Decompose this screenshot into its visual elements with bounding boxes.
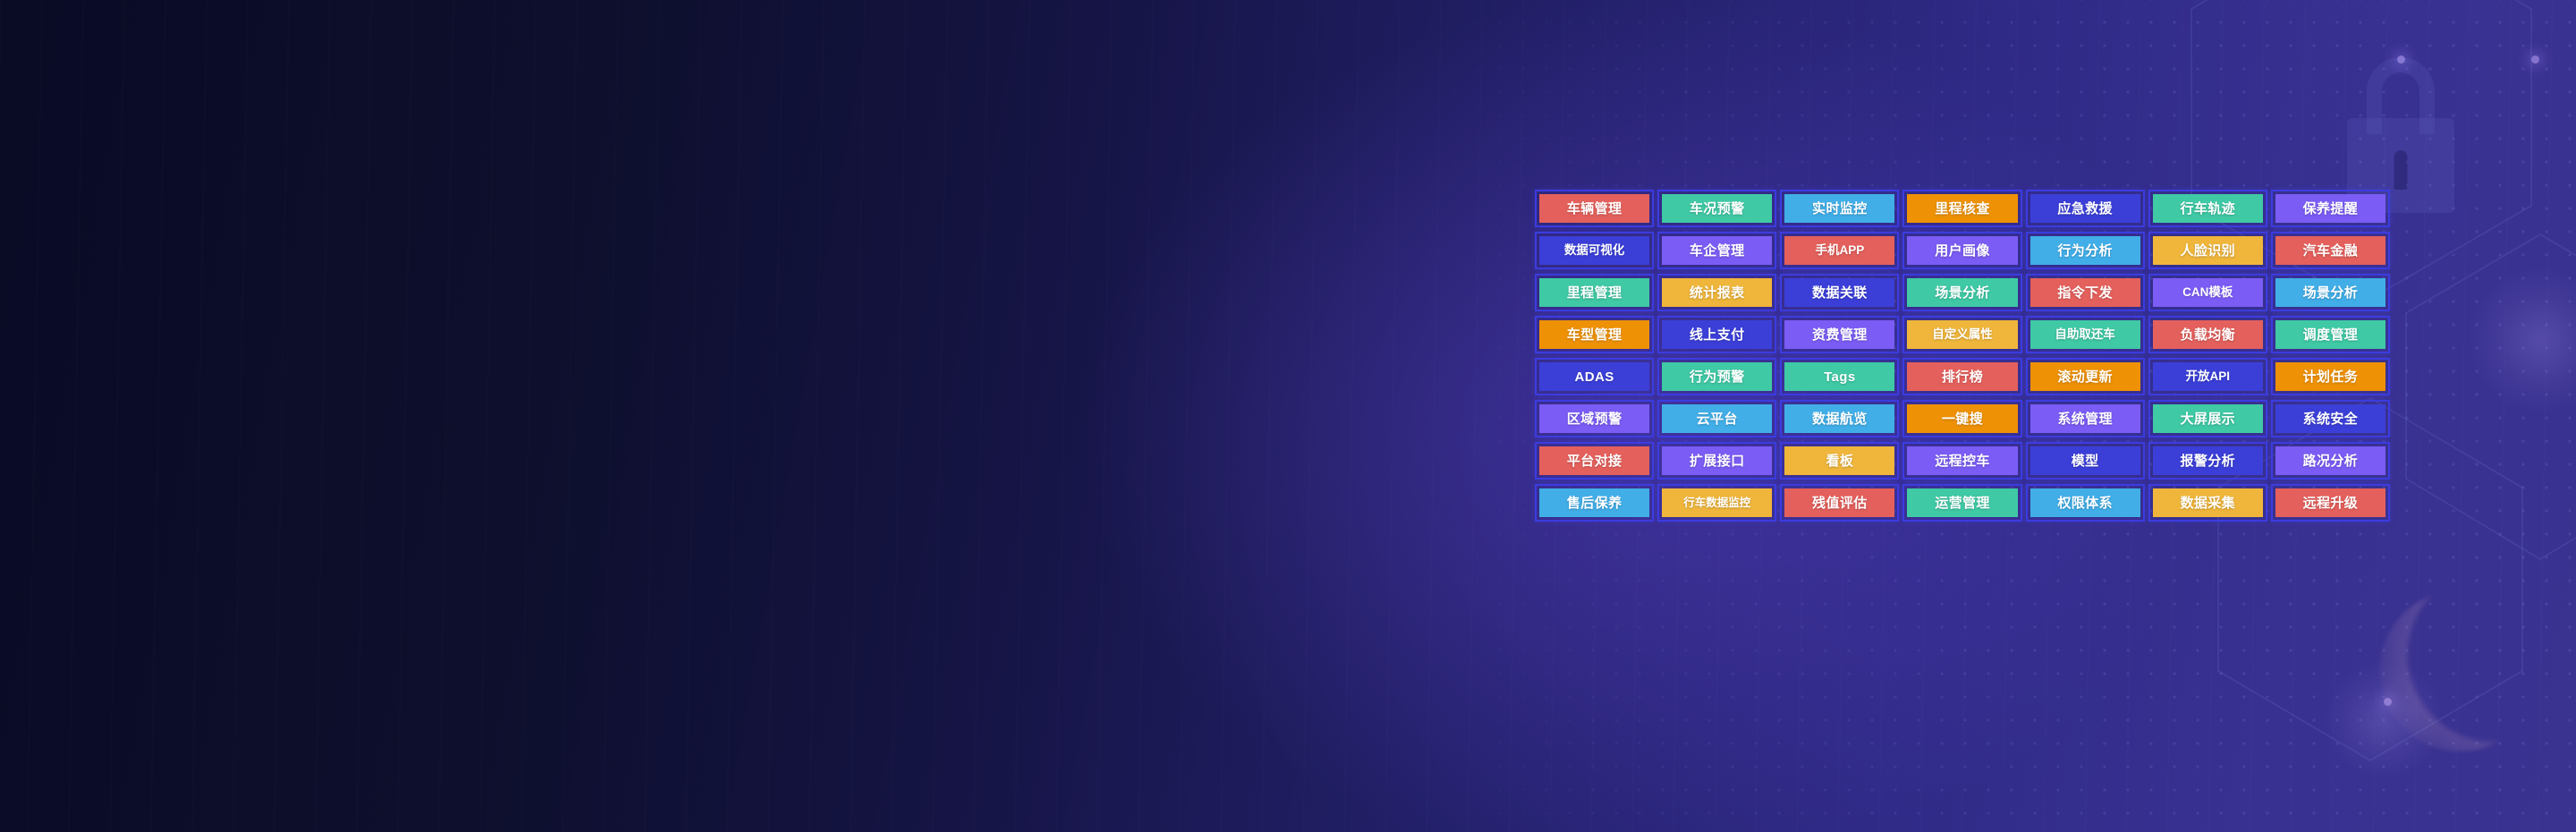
feature-tile[interactable]: 保养提醒 — [2271, 190, 2390, 227]
feature-tile-fill: 车辆管理 — [1539, 194, 1649, 223]
feature-tile[interactable]: 场景分析 — [2271, 274, 2390, 311]
feature-tile-fill: 运营管理 — [1907, 488, 2017, 517]
feature-tile-fill: 线上支付 — [1662, 320, 1772, 349]
feature-tile-fill: 汽车金融 — [2275, 236, 2385, 265]
feature-tile-label: 数据采集 — [2180, 497, 2235, 510]
feature-tile-label: 计划任务 — [2303, 370, 2359, 384]
feature-tile[interactable]: 行为分析 — [2026, 232, 2145, 269]
feature-tile[interactable]: 一键搜 — [1902, 400, 2021, 437]
feature-tile[interactable]: 资费管理 — [1780, 316, 1899, 353]
feature-tile[interactable]: 调度管理 — [2271, 316, 2390, 353]
feature-tile-fill: 报警分析 — [2153, 446, 2263, 475]
feature-tile-fill: 负载均衡 — [2153, 320, 2263, 349]
feature-tile-label: 行为预警 — [1690, 370, 1745, 384]
feature-tile-fill: 权限体系 — [2030, 488, 2140, 517]
feature-tile[interactable]: 区域预警 — [1535, 400, 1654, 437]
page-background: 车辆管理车况预警实时监控里程核查应急救援行车轨迹保养提醒数据可视化车企管理手机A… — [0, 0, 2576, 832]
feature-tile-label: 系统安全 — [2303, 412, 2359, 426]
feature-tile[interactable]: 报警分析 — [2148, 442, 2267, 480]
glow-blob — [2469, 268, 2576, 412]
feature-tile-label: 权限体系 — [2057, 497, 2113, 510]
padlock-icon — [2331, 38, 2470, 213]
feature-tile-label: 大屏展示 — [2180, 412, 2235, 426]
feature-tile-fill: 扩展接口 — [1662, 446, 1772, 475]
feature-tile[interactable]: 自定义属性 — [1902, 316, 2021, 353]
feature-tile-fill: 车况预警 — [1662, 194, 1772, 223]
feature-tile[interactable]: 应急救援 — [2026, 190, 2145, 227]
feature-tile[interactable]: 大屏展示 — [2148, 400, 2267, 437]
feature-tile-fill: 数据关联 — [1784, 278, 1894, 307]
feature-tile[interactable]: 手机APP — [1780, 232, 1899, 269]
feature-tile-label: 行车数据监控 — [1683, 497, 1750, 509]
feature-tile[interactable]: 自助取还车 — [2026, 316, 2145, 353]
feature-tile[interactable]: 数据可视化 — [1535, 232, 1654, 269]
feature-tile[interactable]: 车型管理 — [1535, 316, 1654, 353]
feature-tile-label: 指令下发 — [2057, 286, 2113, 300]
feature-tile[interactable]: 场景分析 — [1902, 274, 2021, 311]
feature-tile-label: 数据可视化 — [1564, 244, 1625, 257]
feature-tile-grid: 车辆管理车况预警实时监控里程核查应急救援行车轨迹保养提醒数据可视化车企管理手机A… — [1535, 190, 2390, 522]
feature-tile[interactable]: 行车轨迹 — [2148, 190, 2267, 227]
feature-tile-label: 里程管理 — [1567, 286, 1623, 300]
feature-tile-fill: 区域预警 — [1539, 404, 1649, 433]
feature-tile-fill: 人脸识别 — [2153, 236, 2263, 265]
feature-tile[interactable]: ADAS — [1535, 358, 1654, 395]
feature-tile[interactable]: CAN模板 — [2148, 274, 2267, 311]
feature-tile-label: 负载均衡 — [2180, 328, 2235, 342]
feature-tile[interactable]: 车辆管理 — [1535, 190, 1654, 227]
feature-tile-label: 看板 — [1826, 454, 1853, 468]
feature-tile-label: 手机APP — [1815, 244, 1864, 257]
feature-tile-label: 模型 — [2072, 454, 2099, 468]
feature-tile-fill: 远程控车 — [1907, 446, 2017, 475]
feature-tile-fill: 大屏展示 — [2153, 404, 2263, 433]
feature-tile[interactable]: 用户画像 — [1902, 232, 2021, 269]
feature-tile-label: 平台对接 — [1567, 454, 1623, 468]
feature-tile-fill: 行为分析 — [2030, 236, 2140, 265]
feature-tile-fill: 一键搜 — [1907, 404, 2017, 433]
feature-tile-label: 调度管理 — [2303, 328, 2359, 342]
feature-tile[interactable]: 数据航览 — [1780, 400, 1899, 437]
feature-tile-label: 统计报表 — [1690, 286, 1745, 300]
feature-tile-label: 车企管理 — [1690, 244, 1745, 258]
feature-tile[interactable]: 平台对接 — [1535, 442, 1654, 480]
feature-tile-fill: 远程升级 — [2275, 488, 2385, 517]
feature-tile-label: 汽车金融 — [2303, 244, 2359, 258]
feature-tile-fill: 实时监控 — [1784, 194, 1894, 223]
feature-tile[interactable]: 权限体系 — [2026, 484, 2145, 522]
feature-tile[interactable]: 数据采集 — [2148, 484, 2267, 522]
feature-tile-fill: 滚动更新 — [2030, 362, 2140, 391]
feature-tile-label: 实时监控 — [1812, 202, 1868, 216]
glow-blob — [2326, 662, 2442, 778]
feature-tile-label: 车辆管理 — [1567, 202, 1623, 216]
feature-tile[interactable]: 系统安全 — [2271, 400, 2390, 437]
feature-tile[interactable]: 数据关联 — [1780, 274, 1899, 311]
feature-tile[interactable]: 模型 — [2026, 442, 2145, 480]
feature-tile[interactable]: 远程升级 — [2271, 484, 2390, 522]
feature-tile-label: CAN模板 — [2182, 286, 2233, 299]
feature-tile-label: 数据关联 — [1812, 286, 1868, 300]
feature-tile-fill: 数据可视化 — [1539, 236, 1649, 265]
feature-tile-fill: 看板 — [1784, 446, 1894, 475]
feature-tile[interactable]: 云平台 — [1657, 400, 1776, 437]
feature-tile[interactable]: 统计报表 — [1657, 274, 1776, 311]
feature-tile-label: 扩展接口 — [1690, 454, 1745, 468]
feature-tile-label: 路况分析 — [2303, 454, 2359, 468]
feature-tile-label: 远程控车 — [1935, 454, 1990, 468]
feature-tile-fill: 自助取还车 — [2030, 320, 2140, 349]
feature-tile[interactable]: 排行榜 — [1902, 358, 2021, 395]
feature-tile-fill: 数据航览 — [1784, 404, 1894, 433]
node-dot-icon — [2397, 55, 2405, 64]
feature-tile[interactable]: 远程控车 — [1902, 442, 2021, 480]
feature-tile-fill: 模型 — [2030, 446, 2140, 475]
feature-tile-fill: 里程管理 — [1539, 278, 1649, 307]
feature-tile[interactable]: 行为预警 — [1657, 358, 1776, 395]
feature-tile-fill: 应急救援 — [2030, 194, 2140, 223]
node-dot-icon — [2384, 698, 2392, 706]
feature-tile-label: 自定义属性 — [1932, 328, 1993, 341]
feature-tile[interactable]: 里程核查 — [1902, 190, 2021, 227]
feature-tile[interactable]: 扩展接口 — [1657, 442, 1776, 480]
feature-tile-label: 自助取还车 — [2055, 328, 2115, 341]
feature-tile-fill: 行车数据监控 — [1662, 488, 1772, 517]
feature-tile-label: 用户画像 — [1935, 244, 1990, 258]
feature-tile-fill: 数据采集 — [2153, 488, 2263, 517]
feature-tile-label: 行车轨迹 — [2180, 202, 2235, 216]
feature-tile-fill: 计划任务 — [2275, 362, 2385, 391]
feature-tile-fill: 开放API — [2153, 362, 2263, 391]
feature-tile-label: 里程核查 — [1935, 202, 1990, 216]
feature-tile-label: 一键搜 — [1942, 412, 1983, 426]
feature-tile-fill: Tags — [1784, 362, 1894, 391]
feature-tile-fill: 系统管理 — [2030, 404, 2140, 433]
feature-tile-label: 云平台 — [1697, 412, 1738, 426]
feature-tile-label: 开放API — [2186, 370, 2231, 383]
feature-tile-label: 资费管理 — [1812, 328, 1868, 342]
feature-tile[interactable]: Tags — [1780, 358, 1899, 395]
feature-tile[interactable]: 路况分析 — [2271, 442, 2390, 480]
feature-tile[interactable]: 线上支付 — [1657, 316, 1776, 353]
feature-tile-fill: 场景分析 — [2275, 278, 2385, 307]
feature-tile[interactable]: 人脸识别 — [2148, 232, 2267, 269]
feature-tile-label: 运营管理 — [1935, 497, 1990, 510]
feature-tile-fill: 调度管理 — [2275, 320, 2385, 349]
feature-tile-label: 报警分析 — [2180, 454, 2235, 468]
feature-tile[interactable]: 行车数据监控 — [1657, 484, 1776, 522]
feature-tile[interactable]: 里程管理 — [1535, 274, 1654, 311]
feature-tile-label: 保养提醒 — [2303, 202, 2359, 216]
feature-tile-fill: 指令下发 — [2030, 278, 2140, 307]
feature-tile[interactable]: 滚动更新 — [2026, 358, 2145, 395]
feature-tile-fill: CAN模板 — [2153, 278, 2263, 307]
feature-tile-label: Tags — [1824, 370, 1856, 384]
feature-tile-label: 应急救援 — [2057, 202, 2113, 216]
feature-tile-label: 场景分析 — [1935, 286, 1990, 300]
feature-tile[interactable]: 指令下发 — [2026, 274, 2145, 311]
feature-tile-fill: 保养提醒 — [2275, 194, 2385, 223]
feature-tile-label: 远程升级 — [2303, 497, 2359, 510]
feature-tile[interactable]: 实时监控 — [1780, 190, 1899, 227]
feature-tile-label: ADAS — [1575, 370, 1614, 384]
feature-tile-label: 线上支付 — [1690, 328, 1745, 342]
node-dot-icon — [2531, 55, 2539, 64]
feature-tile-label: 售后保养 — [1567, 497, 1623, 510]
feature-tile-label: 车型管理 — [1567, 328, 1623, 342]
feature-tile-label: 区域预警 — [1567, 412, 1623, 426]
feature-tile-fill: 平台对接 — [1539, 446, 1649, 475]
feature-tile-fill: ADAS — [1539, 362, 1649, 391]
feature-tile-label: 场景分析 — [2303, 286, 2359, 300]
hexagon-outline-icon — [2361, 224, 2576, 599]
feature-tile-fill: 自定义属性 — [1907, 320, 2017, 349]
feature-tile[interactable]: 看板 — [1780, 442, 1899, 480]
feature-tile[interactable]: 系统管理 — [2026, 400, 2145, 437]
feature-tile[interactable]: 计划任务 — [2271, 358, 2390, 395]
feature-tile-fill: 手机APP — [1784, 236, 1894, 265]
feature-tile-label: 车况预警 — [1690, 202, 1745, 216]
feature-tile[interactable]: 残值评估 — [1780, 484, 1899, 522]
feature-tile[interactable]: 车况预警 — [1657, 190, 1776, 227]
feature-tile-fill: 排行榜 — [1907, 362, 2017, 391]
feature-tile[interactable]: 开放API — [2148, 358, 2267, 395]
feature-tile-fill: 路况分析 — [2275, 446, 2385, 475]
feature-tile[interactable]: 负载均衡 — [2148, 316, 2267, 353]
feature-tile-fill: 车型管理 — [1539, 320, 1649, 349]
feature-tile[interactable]: 车企管理 — [1657, 232, 1776, 269]
feature-tile-label: 排行榜 — [1942, 370, 1983, 384]
feature-tile[interactable]: 汽车金融 — [2271, 232, 2390, 269]
feature-tile-fill: 统计报表 — [1662, 278, 1772, 307]
feature-tile-fill: 用户画像 — [1907, 236, 2017, 265]
feature-tile-label: 行为分析 — [2057, 244, 2113, 258]
feature-tile-label: 滚动更新 — [2057, 370, 2113, 384]
feature-tile-label: 系统管理 — [2057, 412, 2113, 426]
crescent-glow — [2379, 590, 2540, 751]
feature-tile-fill: 场景分析 — [1907, 278, 2017, 307]
feature-tile-fill: 里程核查 — [1907, 194, 2017, 223]
feature-tile-label: 数据航览 — [1812, 412, 1868, 426]
feature-tile-fill: 系统安全 — [2275, 404, 2385, 433]
feature-tile-fill: 资费管理 — [1784, 320, 1894, 349]
feature-tile-fill: 售后保养 — [1539, 488, 1649, 517]
feature-tile-label: 残值评估 — [1812, 497, 1868, 510]
feature-tile-fill: 车企管理 — [1662, 236, 1772, 265]
feature-tile-fill: 云平台 — [1662, 404, 1772, 433]
feature-tile-fill: 行为预警 — [1662, 362, 1772, 391]
feature-tile-fill: 残值评估 — [1784, 488, 1894, 517]
feature-tile[interactable]: 售后保养 — [1535, 484, 1654, 522]
feature-tile-label: 人脸识别 — [2180, 244, 2235, 258]
feature-tile[interactable]: 运营管理 — [1902, 484, 2021, 522]
feature-tile-fill: 行车轨迹 — [2153, 194, 2263, 223]
